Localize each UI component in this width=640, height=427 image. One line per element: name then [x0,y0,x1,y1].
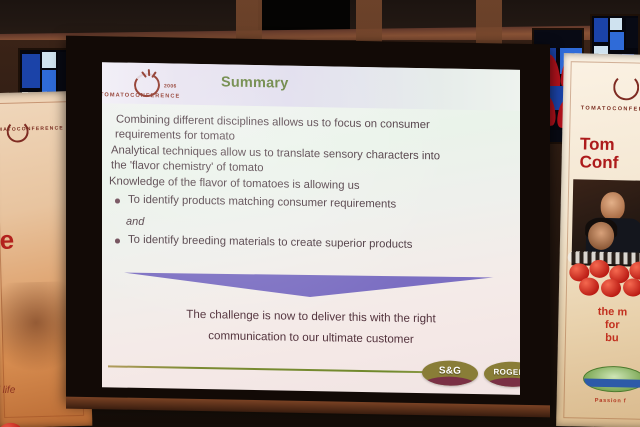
slide-paragraph-2: requirements for tomato [115,127,235,145]
slide-connector: and [126,215,144,231]
conference-year: 2006 [164,83,177,89]
banner-right-tagline-line3: bu [566,331,640,346]
banner-right-brand-bar [584,379,640,388]
sponsor-logo-sg: S&G [422,360,478,386]
banner-right-title: Tom Conf [579,135,640,173]
slide-closing-statement: The challenge is now to deliver this wit… [102,302,520,352]
slide-paragraph-5: Knowledge of the flavor of tomatoes is a… [109,174,360,194]
slide-bullet-1: To identify products matching consumer r… [128,193,396,213]
slide-body: Combining different disciplines allows u… [102,106,520,274]
ceiling-panel [258,0,350,30]
banner-right: TOMATOCONFERENCE Tom Conf the m for bu [556,53,640,427]
bullet-dot-icon [115,238,120,243]
sponsor-logo-rogers-label: ROGERS [484,367,520,377]
banner-right-tagline: the m for bu [566,305,640,346]
slide-title: Summary [221,74,289,91]
chevron-divider [124,271,494,301]
sponsor-logo-rogers: ROGERS [484,361,520,387]
footer-rule [108,365,438,373]
bullet-dot-icon [115,198,120,203]
banner-right-tomatoes [567,259,640,299]
slide-bullet-2: To identify breeding materials to create… [128,233,412,254]
presentation-slide: 2006 TOMATOCONFERENCE Summary Combining … [102,62,520,395]
logo-lower-band [484,377,520,387]
person-head-upper [600,192,625,220]
tomato-icon [0,423,23,427]
tomato-stem-icon [143,69,155,76]
banner-right-title-line2: Conf [579,153,640,173]
logo-lower-band [422,376,478,386]
slide-bullet-1-label: To identify products matching consumer r… [128,194,396,211]
projection-screen-frame: 2006 TOMATOCONFERENCE Summary Combining … [66,36,550,410]
sponsor-logo-sg-label: S&G [422,365,478,377]
conference-room-background: TOMATOCONFERENCE ste of life TOMATOCONFE… [0,0,640,427]
slide-bullet-2-label: To identify breeding materials to create… [128,234,412,251]
